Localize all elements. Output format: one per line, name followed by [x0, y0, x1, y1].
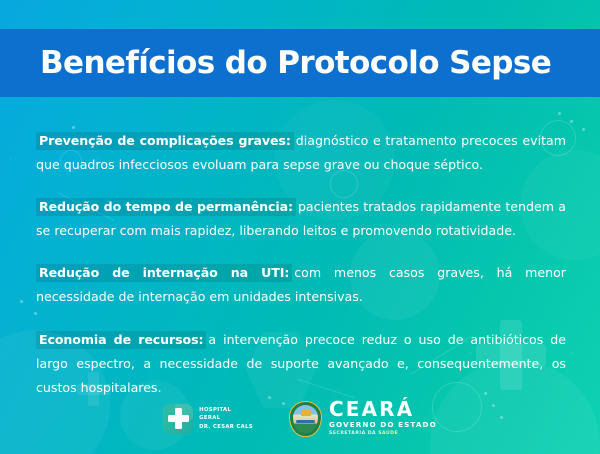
hospital-logo-line-2: GERAL [199, 414, 253, 423]
background-dot [558, 112, 561, 115]
ceara-government-logo: CEARÁ GOVERNO DO ESTADO SECRETARIA DA SA… [289, 399, 437, 438]
benefits-list: Prevenção de complicações graves:diagnós… [36, 116, 566, 400]
ceara-coat-of-arms-icon [289, 401, 322, 437]
hospital-logo: HOSPITAL GERAL DR. CESAR CALS [163, 404, 253, 434]
benefit-item: Economia de recursos:a intervenção preco… [36, 328, 566, 401]
ceara-secretariat-label: SECRETARIA DA SAÚDE [329, 431, 437, 438]
background-dot [570, 120, 573, 123]
hospital-logo-line-3: DR. CESAR CALS [199, 423, 253, 432]
ceara-state-name: CEARÁ [329, 399, 437, 419]
benefit-lead: Prevenção de complicações graves: [36, 132, 294, 150]
benefit-item: Redução de internação na UTI:com menos c… [36, 261, 566, 309]
benefit-lead: Redução do tempo de permanência: [36, 198, 296, 216]
hospital-logo-line-1: HOSPITAL [199, 406, 253, 415]
plus-glyph-icon [175, 408, 182, 429]
hospital-logo-text: HOSPITAL GERAL DR. CESAR CALS [199, 406, 253, 432]
header-banner: Benefícios do Protocolo Sepse [0, 29, 600, 97]
benefit-lead: Redução de internação na UTI: [36, 264, 292, 282]
coat-of-arms-inner [293, 405, 318, 433]
page-title: Benefícios do Protocolo Sepse [0, 45, 551, 81]
background-dot [582, 128, 585, 131]
background-dot [20, 300, 23, 303]
poster-canvas: Benefícios do Protocolo Sepse Prevenção … [0, 0, 600, 454]
ceara-logo-text: CEARÁ GOVERNO DO ESTADO SECRETARIA DA SA… [329, 399, 437, 438]
footer-logos: HOSPITAL GERAL DR. CESAR CALS CEARÁ GOVE… [0, 399, 600, 438]
benefit-item: Redução do tempo de permanência:paciente… [36, 195, 566, 243]
benefit-item: Prevenção de complicações graves:diagnós… [36, 129, 566, 177]
benefit-lead: Economia de recursos: [36, 331, 206, 349]
medical-cross-icon [163, 404, 193, 434]
secretariat-highlight: SAÚDE [378, 431, 398, 436]
ceara-government-label: GOVERNO DO ESTADO [329, 420, 437, 431]
secretariat-prefix: SECRETARIA DA [329, 431, 378, 436]
